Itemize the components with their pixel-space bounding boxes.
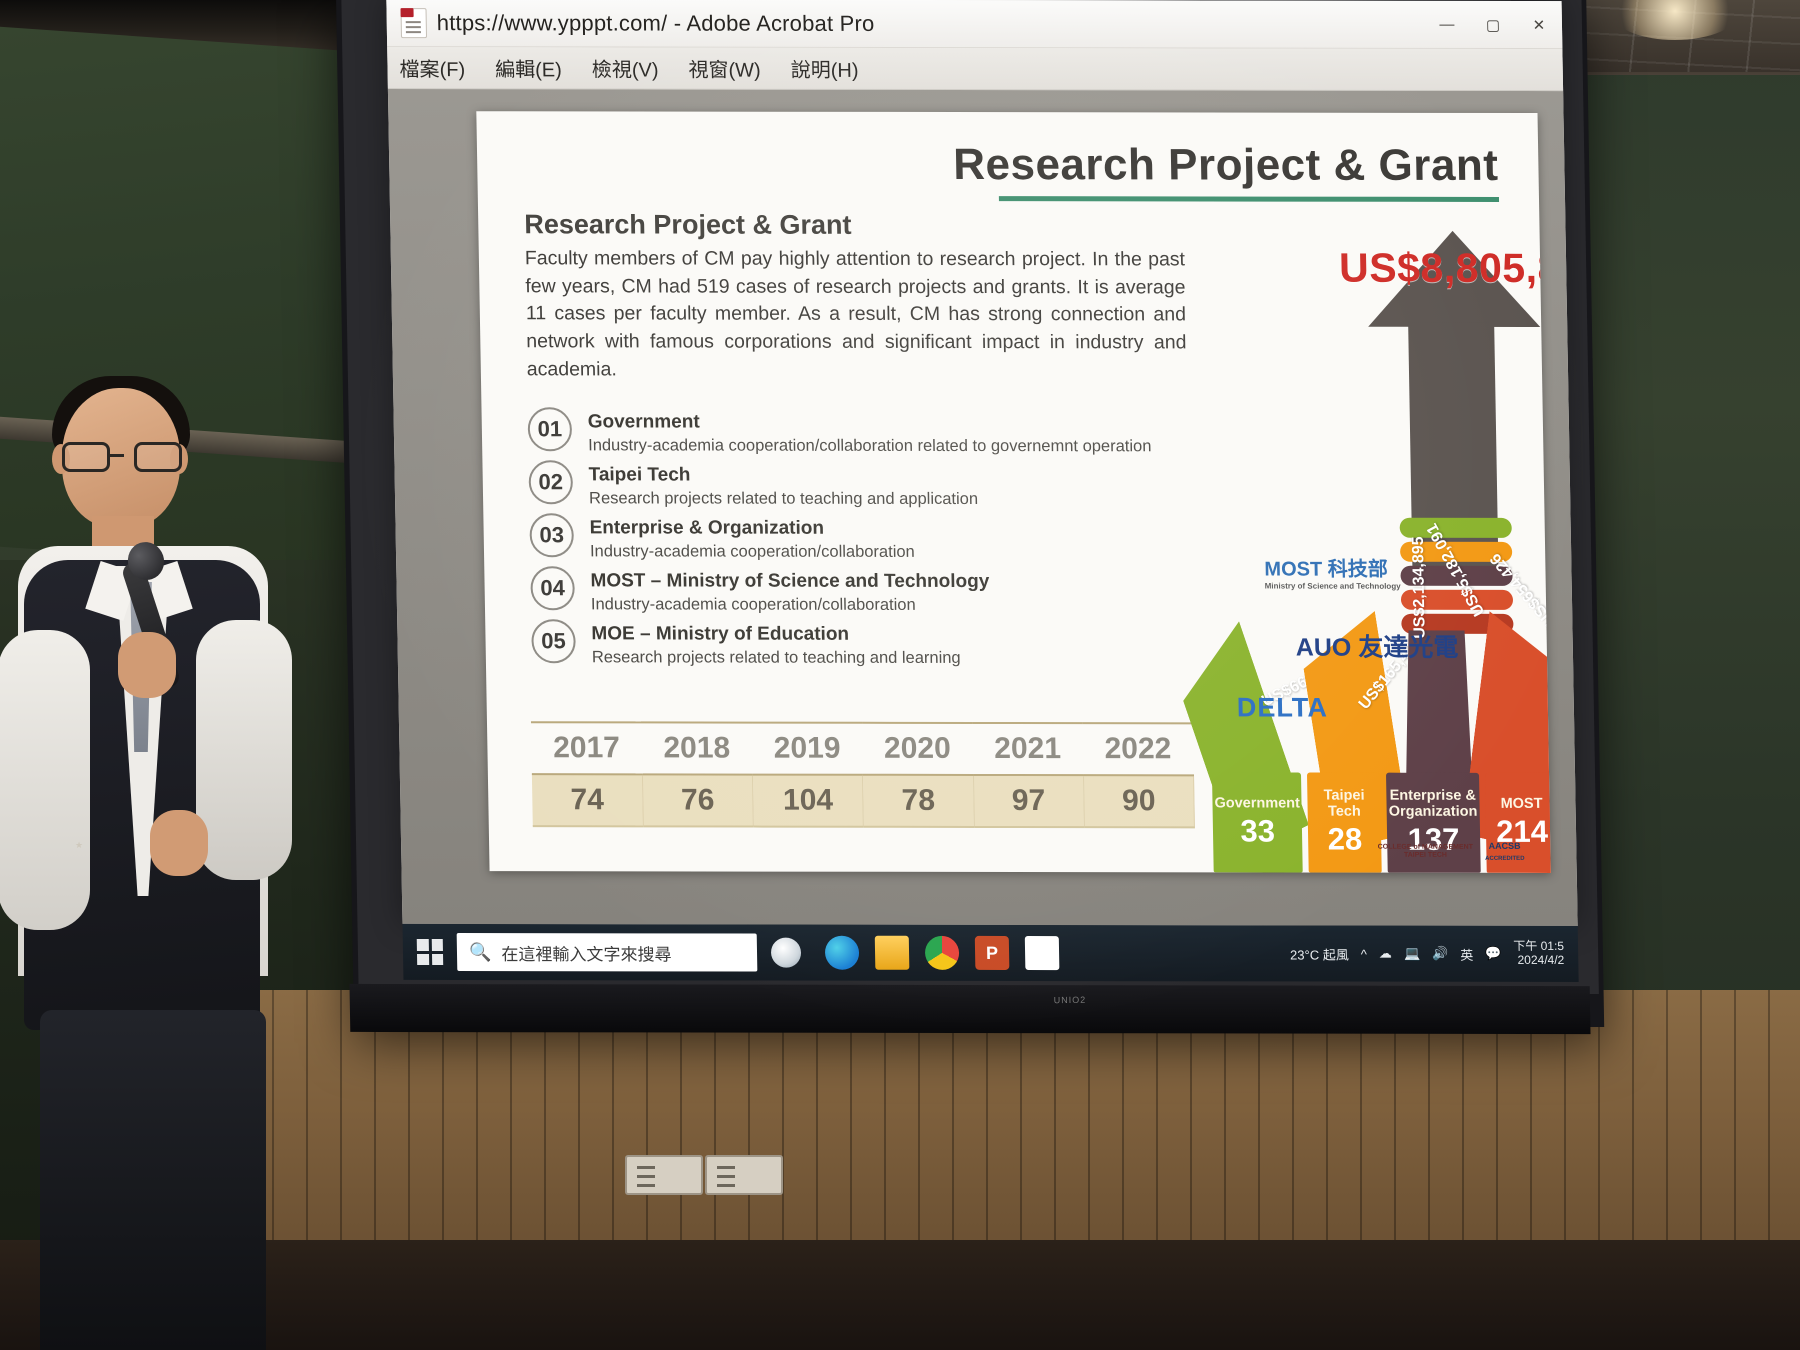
list-item-title: Taipei Tech	[588, 460, 1209, 487]
window-title: https://www.ypppt.com/ - Adobe Acrobat P…	[437, 10, 875, 37]
auo-logo: AUO 友達光電	[1295, 628, 1458, 664]
bar-value-taipei-tech: 28	[1327, 822, 1362, 858]
most-logo: MOST 科技部 Ministry of Science and Technol…	[1264, 553, 1401, 591]
presenter-arm-left	[0, 630, 90, 930]
list-item-desc: Industry-academia cooperation/collaborat…	[590, 539, 1210, 562]
list-item-number: 01	[527, 407, 572, 451]
taskbar-app-icons: P	[825, 936, 1060, 970]
bar-value-government: 33	[1240, 814, 1275, 850]
presenter-hand-left	[150, 810, 208, 876]
list-item-title: MOE – Ministry of Education	[591, 619, 1212, 646]
bar-label-enterprise: Enterprise & Organization	[1388, 787, 1477, 820]
delta-logo: DELTA	[1237, 692, 1329, 723]
list-item: 01 Government Industry-academia cooperat…	[527, 407, 1208, 460]
list-item-title: Government	[587, 407, 1208, 434]
list-item-desc: Industry-academia cooperation/collaborat…	[591, 592, 1211, 615]
presenter-badge: ★	[52, 840, 106, 874]
weather-widget[interactable]: 23°C 起風	[1290, 944, 1349, 963]
onedrive-icon[interactable]: ☁	[1379, 946, 1392, 962]
screen-bottom-bar	[349, 984, 1590, 1034]
com-logo-text: COLLEGE of MANAGEMENT	[1378, 843, 1473, 850]
ray-amount-enterprise: US$2,134,895	[1410, 536, 1430, 638]
list-item-desc: Research projects related to teaching an…	[592, 645, 1212, 668]
glasses-bridge	[110, 454, 124, 457]
list-item-desc: Research projects related to teaching an…	[589, 486, 1209, 509]
bar-label-taipei-tech: Taipei Tech	[1310, 787, 1379, 820]
presenter: ★	[0, 370, 330, 1350]
chevron-up-icon[interactable]: ^	[1361, 946, 1367, 961]
menu-bar: 檔案(F) 編輯(E) 檢視(V) 視窗(W) 說明(H)	[387, 47, 1563, 91]
bar-government: Government 33	[1212, 772, 1303, 872]
menu-item-file[interactable]: 檔案(F)	[399, 53, 465, 82]
footer-logos: COLLEGE of MANAGEMENT TAIPEI TECH AACSB …	[1378, 841, 1525, 863]
glasses-lens-left	[62, 442, 110, 472]
table-header-2022: 2022	[1082, 723, 1193, 775]
list-item-title: Enterprise & Organization	[589, 513, 1210, 540]
search-placeholder: 在這裡輸入文字來搜尋	[501, 940, 671, 965]
table-cell-2018: 76	[642, 774, 753, 826]
table-header-2017: 2017	[531, 722, 642, 774]
notification-icon[interactable]: 💬	[1485, 946, 1501, 962]
windows-start-icon[interactable]	[417, 939, 443, 965]
microsoft-edge-icon[interactable]	[825, 936, 860, 970]
bar-label-most: MOST	[1500, 796, 1542, 812]
cortana-icon[interactable]	[771, 938, 802, 968]
table-header-2018: 2018	[641, 722, 752, 774]
maximize-button[interactable]: ▢	[1470, 1, 1517, 48]
volume-icon[interactable]: 🔊	[1432, 946, 1448, 962]
menu-item-edit[interactable]: 編輯(E)	[495, 53, 562, 82]
window-titlebar: https://www.ypppt.com/ - Adobe Acrobat P…	[386, 0, 1562, 49]
wall-outlet-1	[625, 1155, 703, 1195]
auo-logo-text: AUO 友達光電	[1296, 634, 1459, 662]
list-item: 03 Enterprise & Organization Industry-ac…	[529, 513, 1210, 566]
list-item-number: 02	[528, 460, 573, 504]
year-cases-table: 2017 2018 2019 2020 2021 2022 74 76 104 …	[531, 721, 1195, 828]
bar-taipei-tech: Taipei Tech 28	[1307, 773, 1381, 873]
aacsb-accredited-logo: AACSB ACCREDITED	[1485, 841, 1525, 863]
powerpoint-icon[interactable]: P	[975, 936, 1010, 970]
ime-icon[interactable]: 英	[1460, 944, 1473, 963]
arrow-infographic: US$8,805,805 US$668,983 US$165,408	[1197, 172, 1550, 872]
close-button[interactable]: ✕	[1516, 1, 1563, 48]
table-cell-2021: 97	[973, 775, 1084, 827]
table-row-values: 74 76 104 78 97 90	[532, 774, 1195, 827]
stripe-green	[1400, 518, 1512, 538]
network-icon[interactable]: 💻	[1404, 946, 1420, 962]
table-header-2021: 2021	[972, 723, 1083, 775]
table-row-years: 2017 2018 2019 2020 2021 2022	[531, 722, 1194, 775]
search-input[interactable]: 🔍 在這裡輸入文字來搜尋	[457, 933, 758, 972]
slide-section-title: Research Project & Grant	[524, 209, 852, 241]
delta-logo-text: DELTA	[1237, 692, 1329, 722]
document-viewport[interactable]: Research Project & Grant Research Projec…	[388, 89, 1578, 926]
pdf-document-icon	[400, 8, 427, 38]
slide-paragraph: Faculty members of CM pay highly attenti…	[525, 245, 1188, 385]
most-logo-text: MOST 科技部	[1264, 559, 1388, 581]
menu-item-view[interactable]: 檢視(V)	[592, 53, 659, 82]
total-grant-amount: US$8,805,805	[1339, 245, 1551, 292]
bar-label-government: Government	[1214, 795, 1300, 811]
menu-item-window[interactable]: 視窗(W)	[688, 54, 761, 83]
numbered-list: 01 Government Industry-academia cooperat…	[527, 407, 1212, 673]
clock-time: 下午 01:5	[1513, 940, 1564, 954]
search-icon: 🔍	[469, 942, 492, 963]
list-item-number: 03	[529, 513, 574, 557]
projector-model-label: UNIO2	[1035, 994, 1105, 1009]
list-item-number: 04	[530, 566, 575, 610]
list-item-desc: Industry-academia cooperation/collaborat…	[588, 433, 1208, 456]
taskbar-clock[interactable]: 下午 01:5 2024/4/2	[1513, 940, 1564, 968]
window-controls: — ▢ ✕	[1424, 1, 1563, 48]
aacsb-logo-text: AACSB	[1489, 841, 1521, 851]
table-cell-2019: 104	[752, 775, 863, 827]
table-header-2019: 2019	[752, 723, 863, 775]
table-cell-2022: 90	[1083, 775, 1194, 827]
presenter-glasses	[62, 442, 182, 472]
list-item-title: MOST – Ministry of Science and Technolog…	[590, 566, 1211, 593]
projector-screen: https://www.ypppt.com/ - Adobe Acrobat P…	[341, 0, 1599, 994]
presenter-trousers	[40, 1010, 266, 1350]
list-item: 05 MOE – Ministry of Education Research …	[531, 619, 1212, 672]
list-item-number: 05	[531, 619, 576, 663]
menu-item-help[interactable]: 說明(H)	[790, 54, 858, 83]
windows-taskbar: 🔍 在這裡輸入文字來搜尋 P 23°C 起風 ^ ☁ 💻 🔊 英 💬 下午 01…	[402, 924, 1578, 982]
table-cell-2020: 78	[863, 775, 974, 827]
adobe-acrobat-window: https://www.ypppt.com/ - Adobe Acrobat P…	[386, 0, 1577, 926]
com-logo-sub: TAIPEI TECH	[1404, 852, 1447, 859]
college-of-management-logo: COLLEGE of MANAGEMENT TAIPEI TECH	[1378, 843, 1474, 860]
table-header-2020: 2020	[862, 723, 973, 775]
glasses-lens-right	[134, 442, 182, 472]
wall-outlet-2	[705, 1155, 783, 1195]
google-chrome-icon[interactable]	[925, 936, 960, 970]
list-item: 02 Taipei Tech Research projects related…	[528, 460, 1209, 513]
presenter-hand-right	[118, 632, 176, 698]
list-item: 04 MOST – Ministry of Science and Techno…	[530, 566, 1211, 619]
presentation-slide: Research Project & Grant Research Projec…	[476, 111, 1550, 873]
adobe-acrobat-icon[interactable]	[1025, 936, 1060, 970]
taskbar-tray: 23°C 起風 ^ ☁ 💻 🔊 英 💬 下午 01:5 2024/4/2	[1290, 940, 1565, 968]
clock-date: 2024/4/2	[1513, 954, 1564, 968]
minimize-button[interactable]: —	[1424, 1, 1471, 48]
presenter-arm-right	[196, 620, 292, 880]
file-explorer-icon[interactable]	[875, 936, 910, 970]
aacsb-logo-sub: ACCREDITED	[1485, 856, 1524, 862]
most-logo-sub: Ministry of Science and Technology	[1265, 581, 1401, 590]
table-cell-2017: 74	[532, 774, 643, 826]
